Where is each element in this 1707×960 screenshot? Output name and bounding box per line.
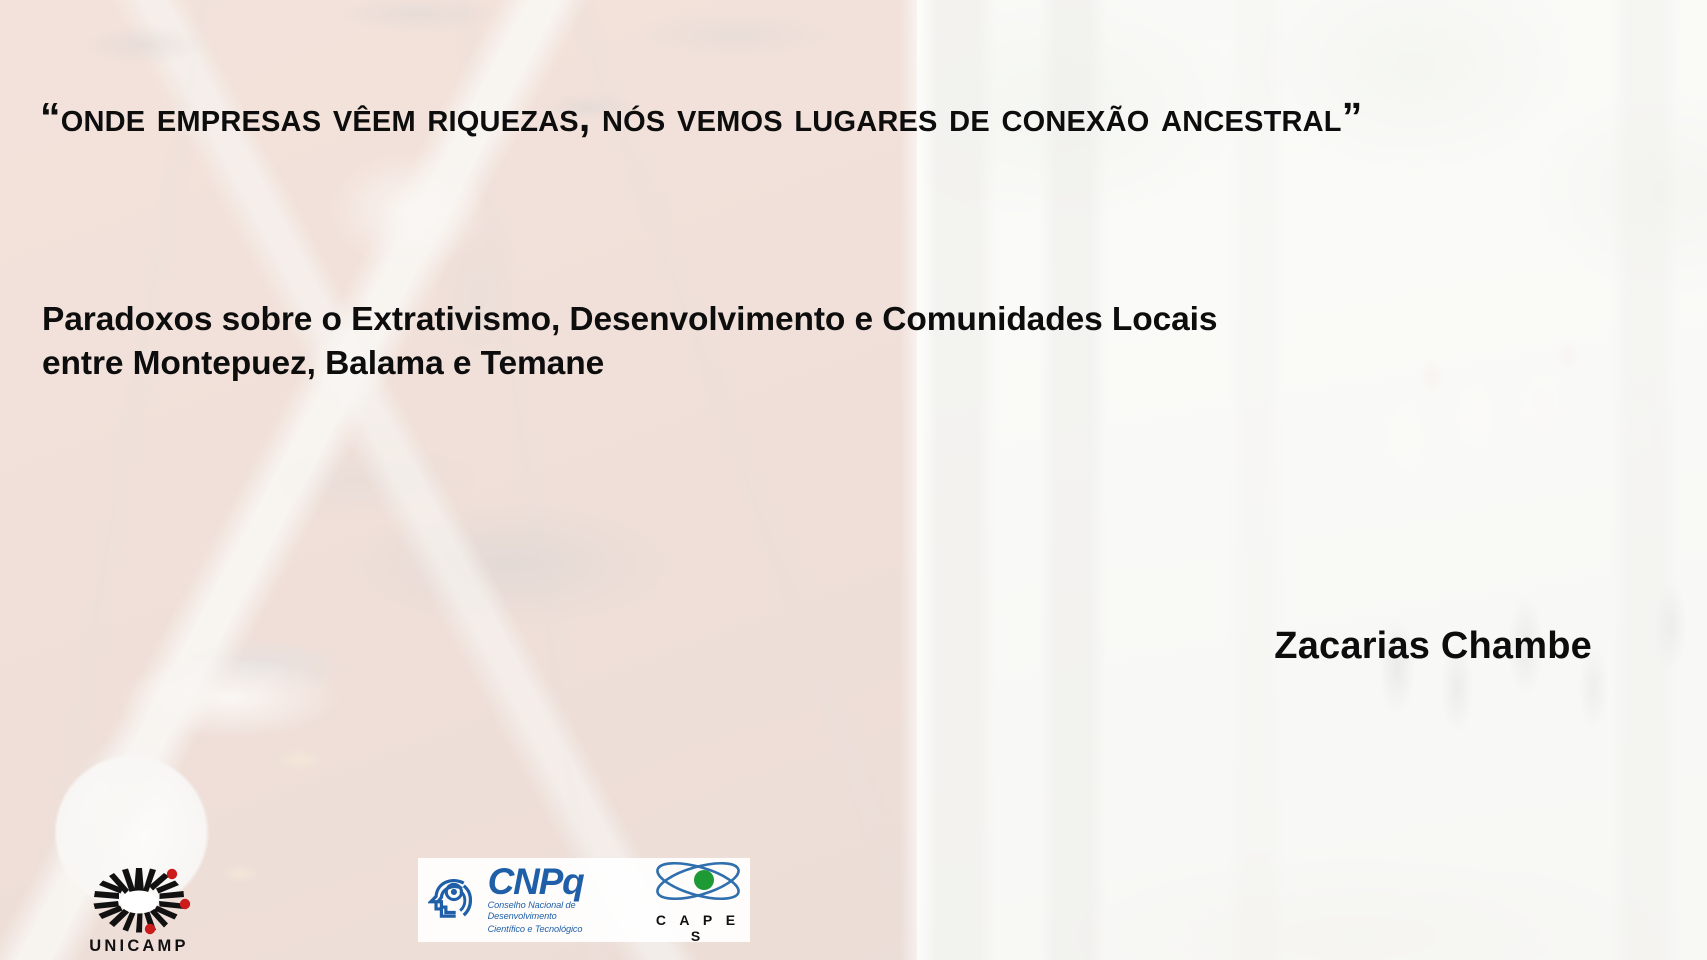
author-name: Zacarias Chambe [0, 625, 1592, 668]
cnpq-subtitle-line-2: Científico e Tecnológico [488, 924, 630, 935]
cnpq-wordmark: CNPq [488, 865, 630, 899]
logo-capes: C A P E S [646, 856, 750, 944]
slide-subtitle-line-1: Paradoxos sobre o Extrativismo, Desenvol… [42, 298, 1602, 342]
capes-green-dot [694, 870, 714, 890]
presentation-slide: “Onde Empresas vêem riquezas, nós vemos … [0, 0, 1707, 960]
logo-cnpq: CNPq Conselho Nacional de Desenvolviment… [428, 865, 630, 935]
funder-logos-band: CNPq Conselho Nacional de Desenvolviment… [418, 858, 750, 942]
unicamp-dot-bottom [145, 924, 155, 934]
unicamp-dot-top [167, 869, 177, 879]
capes-wordmark: C A P E S [646, 912, 750, 944]
title-block: “Onde Empresas vêem riquezas, nós vemos … [40, 88, 1640, 146]
cnpq-subtitle-line-1: Conselho Nacional de Desenvolvimento [488, 900, 630, 922]
capes-orbit-icon [646, 856, 750, 906]
slide-content: “Onde Empresas vêem riquezas, nós vemos … [0, 0, 1707, 960]
cnpq-head-icon [428, 872, 482, 928]
unicamp-dot-right [180, 899, 190, 909]
unicamp-emblem-icon [78, 862, 200, 936]
subtitle-block: Paradoxos sobre o Extrativismo, Desenvol… [42, 298, 1602, 386]
logo-unicamp: UNICAMP [78, 862, 200, 958]
slide-title: “Onde Empresas vêem riquezas, nós vemos … [40, 88, 1640, 146]
slide-subtitle-line-2: entre Montepuez, Balama e Temane [42, 342, 1602, 386]
author-block: Zacarias Chambe [0, 625, 1592, 668]
unicamp-wordmark: UNICAMP [78, 937, 200, 956]
cnpq-texts: CNPq Conselho Nacional de Desenvolviment… [488, 865, 630, 935]
